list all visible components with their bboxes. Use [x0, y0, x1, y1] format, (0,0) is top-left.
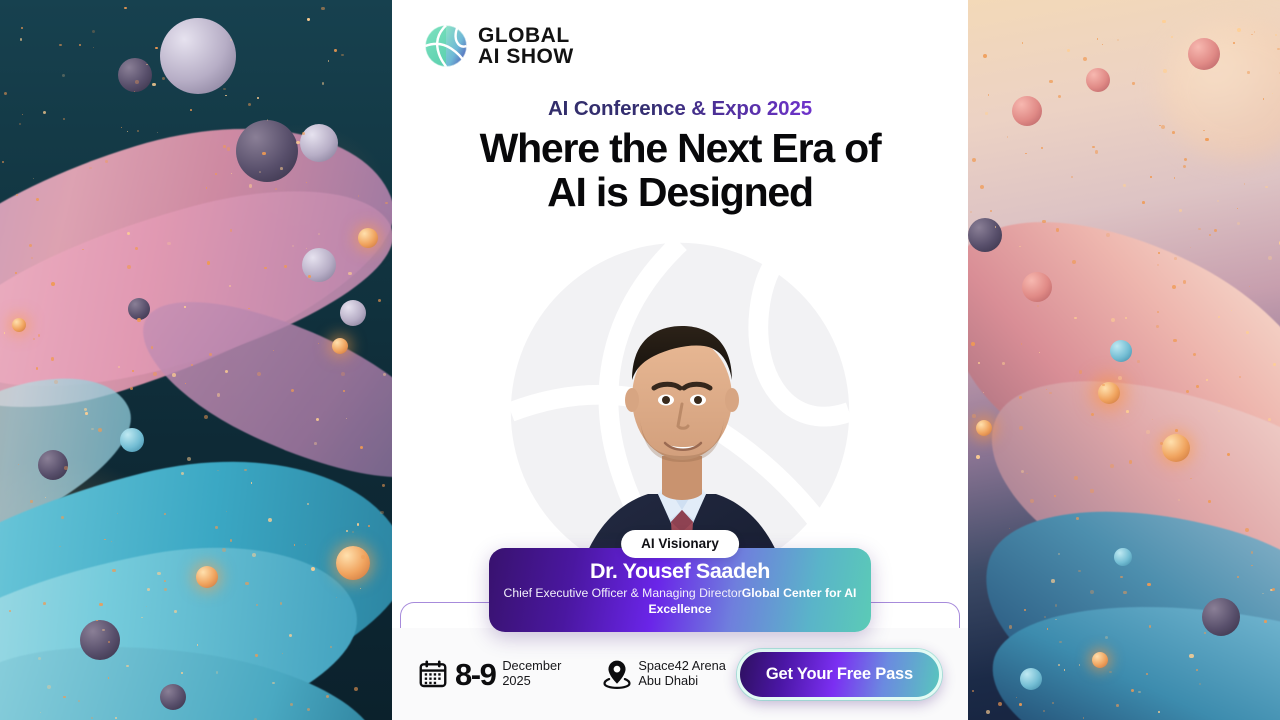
sphere-orb — [1202, 598, 1240, 636]
sphere-orb — [196, 566, 218, 588]
sphere-orb — [1188, 38, 1220, 70]
venue-city: Abu Dhabi — [638, 674, 726, 689]
venue-name: Space42 Arena — [638, 659, 726, 674]
sphere-orb — [120, 428, 144, 452]
sphere-orb — [236, 120, 298, 182]
headline-line-1: Where the Next Era of — [410, 126, 950, 170]
sphere-orb — [1020, 668, 1042, 690]
sphere-orb — [160, 684, 186, 710]
brand-logo[interactable]: GLOBAL AI SHOW — [424, 24, 574, 68]
sphere-orb — [38, 450, 68, 480]
sphere-orb — [1092, 652, 1108, 668]
sphere-orb — [1114, 548, 1132, 566]
globe-logo-icon — [424, 24, 468, 68]
sphere-orb — [976, 420, 992, 436]
sphere-orb — [300, 124, 338, 162]
footer-bar: 8-9 December 2025 Space42 Arena Abu Dhab… — [392, 640, 968, 708]
status-badge: AI Visionary — [621, 530, 739, 558]
speaker-info-card: Dr. Yousef Saadeh Chief Executive Office… — [489, 548, 871, 632]
speaker-role-title: Chief Executive Officer & Managing Direc… — [504, 586, 742, 600]
event-date-days: 8-9 — [455, 659, 495, 690]
event-date-month: December — [502, 659, 561, 674]
event-date: 8-9 December 2025 — [418, 659, 561, 690]
event-poster-card: GLOBAL AI SHOW AI Conference & Expo 2025… — [392, 0, 968, 720]
sphere-orb — [1110, 340, 1132, 362]
headline-line-2: AI is Designed — [410, 170, 950, 214]
event-date-year: 2025 — [502, 674, 561, 689]
sphere-orb — [1162, 434, 1190, 462]
sphere-orb — [968, 218, 1002, 252]
sphere-orb — [1086, 68, 1110, 92]
event-kicker: AI Conference & Expo 2025 — [392, 97, 968, 121]
sphere-orb — [358, 228, 378, 248]
sphere-orb — [1022, 272, 1052, 302]
sphere-orb — [340, 300, 366, 326]
sphere-orb — [128, 298, 150, 320]
sphere-orb — [12, 318, 26, 332]
get-free-pass-button[interactable]: Get Your Free Pass — [737, 649, 942, 700]
sphere-orb — [1012, 96, 1042, 126]
speaker-role: Chief Executive Officer & Managing Direc… — [489, 586, 871, 618]
sphere-orb — [80, 620, 120, 660]
brand-name-line1: GLOBAL — [478, 25, 574, 46]
sphere-orb — [332, 338, 348, 354]
calendar-icon — [418, 659, 448, 689]
sphere-orb — [336, 546, 370, 580]
page-title: Where the Next Era of AI is Designed — [410, 126, 950, 215]
speaker-name: Dr. Yousef Saadeh — [489, 559, 871, 584]
location-pin-icon — [603, 659, 631, 689]
brand-name-line2: AI SHOW — [478, 46, 574, 67]
sphere-orb — [160, 18, 236, 94]
event-location: Space42 Arena Abu Dhabi — [603, 659, 726, 689]
